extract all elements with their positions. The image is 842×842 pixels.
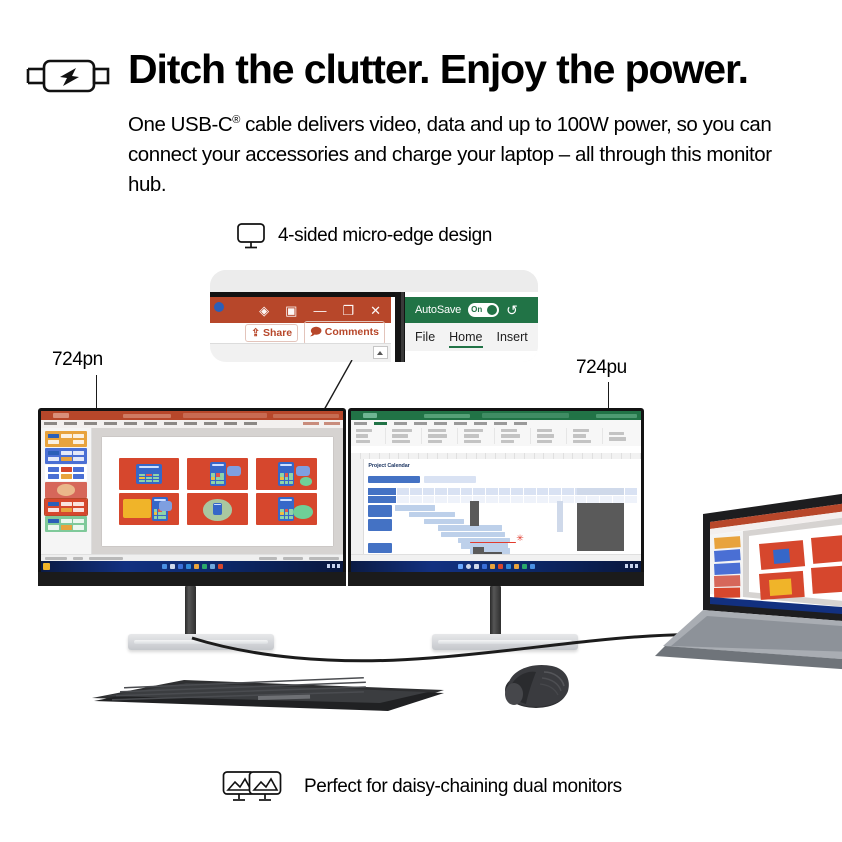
share-button[interactable]: ⇪ Share xyxy=(245,324,298,342)
tab-review[interactable] xyxy=(204,422,217,425)
phase-two-label xyxy=(368,519,391,531)
slide-thumbnail-panel[interactable] xyxy=(41,428,92,555)
subcopy-part-2: cable delivers video, data and up to 100… xyxy=(240,113,734,136)
tab-animations[interactable] xyxy=(164,422,177,425)
tab-insert[interactable] xyxy=(84,422,97,425)
scroll-up-button[interactable] xyxy=(373,346,388,359)
start-button[interactable] xyxy=(43,563,50,570)
callout-excel-ribbon-tabs: File Home Insert xyxy=(405,323,538,351)
subcopy-part-1: One USB-C xyxy=(128,113,232,136)
callout-excel-titlebar: AutoSave On ↺ xyxy=(405,297,538,323)
taskbar-icon[interactable] xyxy=(482,564,487,569)
taskbar-icon[interactable] xyxy=(202,564,207,569)
toggle-knob xyxy=(487,305,497,315)
slide-card xyxy=(119,493,180,526)
tab-slideshow[interactable] xyxy=(184,422,197,425)
autosave-chip[interactable] xyxy=(363,413,377,418)
list-item[interactable] xyxy=(45,431,87,447)
group-cells[interactable] xyxy=(535,428,567,444)
sheet-controls[interactable] xyxy=(368,476,476,483)
selected-header xyxy=(577,488,623,495)
tab-file[interactable] xyxy=(354,422,367,425)
window-controls[interactable] xyxy=(273,414,339,418)
taskbar-icon[interactable] xyxy=(210,564,215,569)
callout-leader-line xyxy=(300,360,360,412)
wireless-keyboard[interactable] xyxy=(88,672,448,712)
right-monitor-screen[interactable]: Project Calendar xyxy=(351,411,641,572)
tab-view[interactable] xyxy=(494,422,507,425)
taskbar-icon[interactable] xyxy=(506,564,511,569)
taskbar-icon[interactable] xyxy=(530,564,535,569)
autosave-toggle[interactable]: On xyxy=(468,303,499,317)
list-item[interactable] xyxy=(45,465,87,481)
tab-file[interactable]: File xyxy=(415,330,435,344)
window-controls[interactable] xyxy=(596,414,637,418)
callout-top-gap xyxy=(210,270,538,292)
list-item[interactable] xyxy=(45,448,87,464)
bezel-zoom-callout: ◈ ▣ — ❐ ✕ ⇪ Share 🗩 Comments xyxy=(210,270,538,362)
document-name xyxy=(123,414,171,418)
page-subcopy: One USB-C® cable delivers video, data an… xyxy=(128,110,788,200)
minimize-icon[interactable]: — xyxy=(313,304,326,317)
tab-draw[interactable] xyxy=(104,422,117,425)
taskbar-icon[interactable] xyxy=(498,564,503,569)
comment-icon: 🗩 xyxy=(310,326,322,338)
taskbar-icon[interactable] xyxy=(474,564,479,569)
annotation-underline xyxy=(470,542,516,543)
tab-insert[interactable] xyxy=(394,422,407,425)
group-font[interactable] xyxy=(390,428,422,444)
feature-micro-edge: 4-sided micro-edge design xyxy=(236,222,492,250)
tab-page-layout[interactable] xyxy=(414,422,427,425)
worksheet-grid[interactable]: Project Calendar xyxy=(351,459,641,555)
workbook-name xyxy=(424,414,470,418)
marker-icon: ✳ xyxy=(516,534,524,543)
slide-card-grid xyxy=(119,458,317,526)
start-week-button[interactable] xyxy=(368,476,420,483)
ribbon-groups xyxy=(354,428,638,444)
present-icon[interactable]: ▣ xyxy=(285,304,297,317)
excel-statusbar xyxy=(351,554,641,561)
gantt-bar xyxy=(441,532,505,538)
callout-powerpoint-sharebar: ⇪ Share 🗩 Comments xyxy=(210,323,391,343)
thumb-content xyxy=(48,434,84,445)
highlight-column xyxy=(557,501,563,532)
tab-data[interactable] xyxy=(454,422,467,425)
restore-icon[interactable]: ❐ xyxy=(342,304,354,317)
leader-line-left xyxy=(96,375,97,409)
slide-card xyxy=(256,458,317,491)
list-item[interactable] xyxy=(45,499,87,515)
taskbar-icon[interactable] xyxy=(522,564,527,569)
phase-three-label xyxy=(368,543,391,553)
excel-ribbon xyxy=(351,420,641,447)
tab-help[interactable] xyxy=(244,422,257,425)
start-date-field[interactable] xyxy=(424,476,476,483)
excel-window: Project Calendar xyxy=(351,411,641,561)
wireless-mouse[interactable] xyxy=(492,658,574,714)
thumb-content xyxy=(48,467,84,479)
powerpoint-window xyxy=(41,411,343,561)
powerpoint-statusbar xyxy=(41,554,343,561)
comments-label: Comments xyxy=(325,326,379,338)
taskbar-icon[interactable] xyxy=(458,564,463,569)
group-analysis[interactable] xyxy=(607,428,638,444)
laptop xyxy=(655,470,842,670)
poster-canvas: Ditch the clutter. Enjoy the power. One … xyxy=(0,0,842,842)
gantt-bar xyxy=(395,505,436,511)
tab-home[interactable] xyxy=(374,422,387,425)
starting-date-row xyxy=(368,496,638,503)
group-number[interactable] xyxy=(462,428,494,444)
dual-monitor-icon xyxy=(222,770,290,804)
row-headers xyxy=(351,459,364,555)
tab-transitions[interactable] xyxy=(144,422,157,425)
usb-c-power-plug-icon xyxy=(24,55,116,97)
gantt-bar xyxy=(424,519,465,525)
selected-range xyxy=(577,503,623,551)
callout-excel-pane: AutoSave On ↺ File Home Insert xyxy=(405,292,538,362)
registered-mark: ® xyxy=(232,114,240,126)
comments-button[interactable]: 🗩 Comments xyxy=(304,321,385,345)
feature-daisy-chain: Perfect for daisy-chaining dual monitors xyxy=(222,770,622,804)
autosave-label: AutoSave xyxy=(415,304,461,316)
tab-review[interactable] xyxy=(474,422,487,425)
ribbon-tabs[interactable] xyxy=(44,422,257,425)
system-tray[interactable] xyxy=(625,564,638,568)
feature-micro-edge-label: 4-sided micro-edge design xyxy=(278,225,492,247)
tab-formulas[interactable] xyxy=(434,422,447,425)
comments-button[interactable] xyxy=(324,422,340,425)
slide-card xyxy=(187,458,248,491)
page-title: Ditch the clutter. Enjoy the power. xyxy=(128,48,818,91)
taskbar-icon[interactable] xyxy=(162,564,167,569)
thumb-content xyxy=(48,502,84,513)
search-input[interactable] xyxy=(183,413,268,418)
list-item[interactable] xyxy=(45,482,87,498)
autosave-chip xyxy=(53,413,69,418)
close-icon[interactable]: ✕ xyxy=(370,304,381,317)
slide-canvas[interactable] xyxy=(92,428,343,555)
slide-card xyxy=(256,493,317,526)
tab-home[interactable] xyxy=(64,422,77,425)
group-editing[interactable] xyxy=(571,428,603,444)
tab-design[interactable] xyxy=(124,422,137,425)
feature-daisy-chain-label: Perfect for daisy-chaining dual monitors xyxy=(304,776,622,798)
undo-icon[interactable]: ↺ xyxy=(506,302,518,319)
ribbon-share-group[interactable] xyxy=(303,422,340,425)
thumb-content xyxy=(48,519,84,530)
tab-help[interactable] xyxy=(514,422,527,425)
slide-card xyxy=(187,493,248,526)
tab-insert[interactable]: Insert xyxy=(497,330,528,344)
powerpoint-titlebar xyxy=(41,411,343,420)
list-item[interactable] xyxy=(45,516,87,532)
sheet-title: Project Calendar xyxy=(368,463,409,469)
taskbar-icon[interactable] xyxy=(194,564,199,569)
group-clipboard[interactable] xyxy=(354,428,386,444)
taskbar-icon[interactable] xyxy=(170,564,175,569)
label-left-monitor: 724pn xyxy=(52,349,103,371)
thumb-content xyxy=(48,451,84,462)
share-button[interactable] xyxy=(303,422,319,425)
taskbar-icon[interactable] xyxy=(490,564,495,569)
excel-titlebar xyxy=(351,411,641,420)
left-monitor-screen[interactable] xyxy=(41,411,343,572)
group-styles[interactable] xyxy=(499,428,531,444)
label-right-monitor: 724pu xyxy=(576,357,627,379)
current-slide xyxy=(102,437,333,546)
autosave-state: On xyxy=(471,305,482,314)
callout-powerpoint-window-controls: ◈ ▣ — ❐ ✕ xyxy=(210,297,391,323)
search-input[interactable] xyxy=(482,413,569,418)
highlight-column xyxy=(470,501,479,526)
gantt-bar xyxy=(409,512,455,518)
phase-one-label xyxy=(368,505,391,517)
tab-view[interactable] xyxy=(224,422,237,425)
slide-card xyxy=(119,458,180,491)
callout-bezel-seam-highlight xyxy=(401,292,404,362)
ribbon-tabs[interactable] xyxy=(354,422,527,425)
taskbar-icon[interactable] xyxy=(178,564,183,569)
right-monitor: Project Calendar xyxy=(348,408,644,586)
search-icon[interactable] xyxy=(466,564,471,569)
thumb-content xyxy=(57,484,75,496)
diamond-icon[interactable]: ◈ xyxy=(259,304,269,317)
system-tray[interactable] xyxy=(327,564,340,568)
group-alignment[interactable] xyxy=(426,428,458,444)
monitor-icon xyxy=(236,222,266,250)
tab-home[interactable]: Home xyxy=(449,330,482,344)
taskbar-icon[interactable] xyxy=(514,564,519,569)
share-icon: ⇪ xyxy=(251,327,260,339)
taskbar-icon[interactable] xyxy=(186,564,191,569)
left-monitor xyxy=(38,408,346,586)
tab-file[interactable] xyxy=(44,422,57,425)
taskbar-icon[interactable] xyxy=(218,564,223,569)
callout-excel-grid xyxy=(405,351,538,362)
share-label: Share xyxy=(263,327,292,339)
